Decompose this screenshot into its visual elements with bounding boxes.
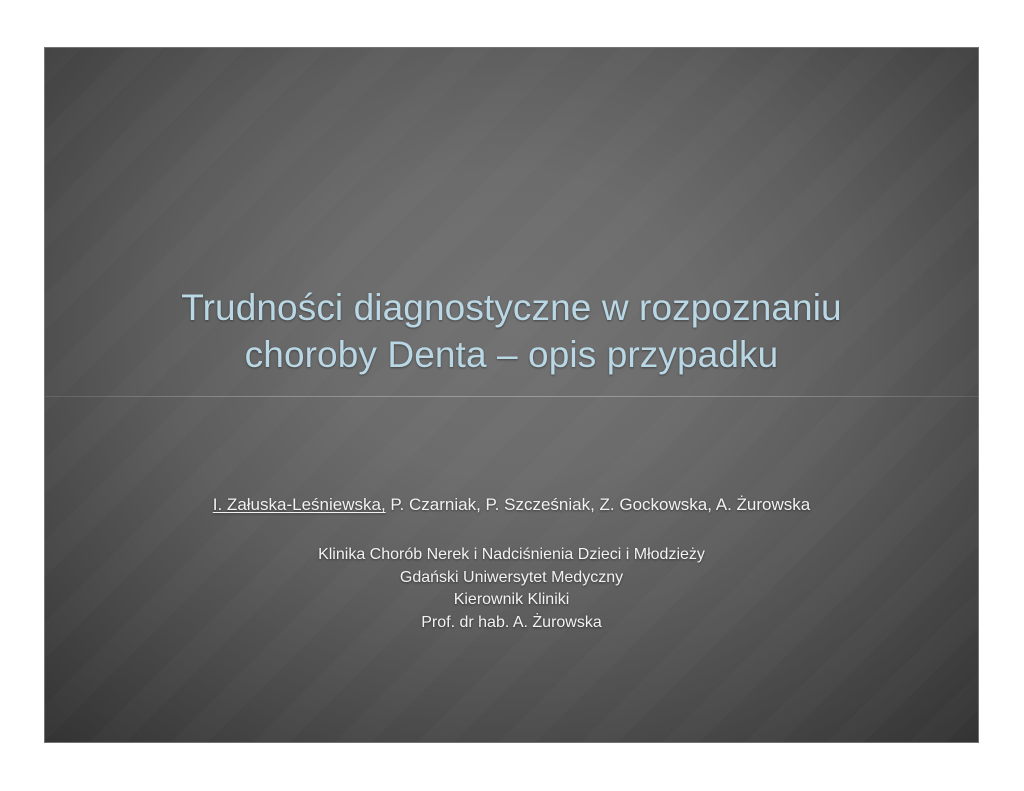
page-canvas: Trudności diagnostyczne w rozpoznaniu ch… xyxy=(0,0,1024,791)
affiliation-block: Klinika Chorób Nerek i Nadciśnienia Dzie… xyxy=(45,544,978,634)
background-sheen-overlay xyxy=(45,48,978,742)
affiliation-line-3: Kierownik Kliniki xyxy=(45,589,978,612)
first-author-name: I. Załuska-Leśniewska, xyxy=(213,495,386,514)
affiliation-line-2: Gdański Uniwersytet Medyczny xyxy=(45,567,978,590)
title-line-2: choroby Denta – opis przypadku xyxy=(45,331,978,378)
author-list: I. Załuska-Leśniewska, P. Czarniak, P. S… xyxy=(45,494,978,516)
title-line-1: Trudności diagnostyczne w rozpoznaniu xyxy=(45,284,978,331)
affiliation-line-4: Prof. dr hab. A. Żurowska xyxy=(45,612,978,635)
co-author-names: P. Czarniak, P. Szcześniak, Z. Gockowska… xyxy=(386,495,811,514)
slide-title: Trudności diagnostyczne w rozpoznaniu ch… xyxy=(45,284,978,378)
title-divider-rule xyxy=(45,396,978,397)
affiliation-line-1: Klinika Chorób Nerek i Nadciśnienia Dzie… xyxy=(45,544,978,567)
presentation-slide: Trudności diagnostyczne w rozpoznaniu ch… xyxy=(45,48,978,742)
